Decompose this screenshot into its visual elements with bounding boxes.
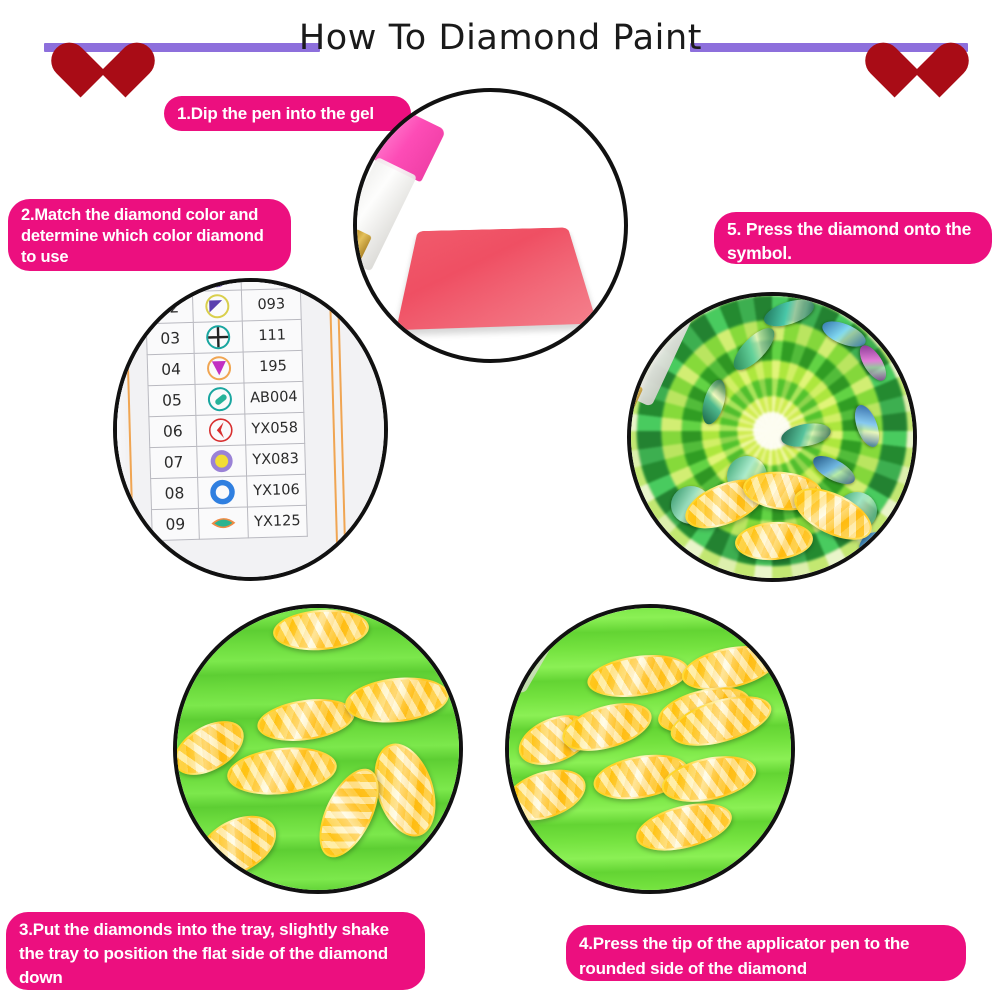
symbol-legend-table: 02002093031110419505AB00406YX05807YX0830… xyxy=(144,278,308,541)
symbol-table-row: 03111 xyxy=(146,319,302,354)
symbol-row-code: 195 xyxy=(243,350,303,383)
symbol-row-glyph xyxy=(193,321,243,353)
symbol-row-glyph xyxy=(196,414,246,446)
color-symbol-chart-photo: 02002093031110419505AB00406YX05807YX0830… xyxy=(113,278,388,581)
symbol-row-code: 111 xyxy=(242,319,302,352)
symbol-row-number: 08 xyxy=(151,477,199,509)
symbol-row-number: 03 xyxy=(146,322,194,354)
symbol-leaf-icon xyxy=(210,510,237,537)
symbol-left-arrow-icon xyxy=(207,417,234,444)
placing-diamond-on-canvas-photo xyxy=(627,292,917,582)
symbol-triangle-down-icon xyxy=(206,355,233,382)
symbol-table-row: 06YX058 xyxy=(149,412,305,447)
page-header: How To Diamond Paint xyxy=(0,0,1001,82)
symbol-table-row: 07YX083 xyxy=(150,443,306,478)
paper-guide-line xyxy=(336,278,348,581)
symbol-row-glyph xyxy=(198,507,248,539)
symbol-row-number: 04 xyxy=(147,353,195,385)
symbol-row-glyph xyxy=(194,352,244,384)
symbol-row-glyph xyxy=(195,383,245,415)
symbol-row-glyph xyxy=(198,476,248,508)
step-1-label: 1.Dip the pen into the gel xyxy=(164,96,411,131)
symbol-slash-oval-icon xyxy=(207,386,234,413)
step-5-label: 5. Press the diamond onto the symbol. xyxy=(714,212,992,264)
symbol-row-code: 093 xyxy=(241,288,301,321)
symbol-row-glyph xyxy=(197,445,247,477)
symbol-table-row: 08YX106 xyxy=(151,474,307,509)
step-3-label: 3.Put the diamonds into the tray, slight… xyxy=(6,912,425,990)
symbol-table-row: 09YX125 xyxy=(151,505,307,540)
page-title: How To Diamond Paint xyxy=(0,16,1001,60)
symbol-row-number: 09 xyxy=(151,508,199,540)
symbol-double-dot-circle-icon xyxy=(203,278,230,289)
symbol-row-code: YX058 xyxy=(245,412,305,445)
pen-picking-diamond-photo xyxy=(505,604,795,894)
diamonds-in-tray-photo xyxy=(173,604,463,894)
symbol-plus-circle-icon xyxy=(205,324,232,351)
chart-paper: 02002093031110419505AB00406YX05807YX0830… xyxy=(113,278,388,581)
symbol-filled-dot-icon xyxy=(208,448,235,475)
step-2-label: 2.Match the diamond color and determine … xyxy=(8,199,291,271)
symbol-row-number: 05 xyxy=(148,384,196,416)
symbol-ring-icon xyxy=(209,479,236,506)
symbol-table-row: 02093 xyxy=(145,288,301,323)
symbol-row-glyph xyxy=(192,290,242,322)
symbol-triangle-corner-icon xyxy=(204,293,231,320)
symbol-row-number xyxy=(145,278,193,293)
symbol-row-code: YX083 xyxy=(246,443,306,476)
symbol-row-code: YX125 xyxy=(247,505,307,538)
symbol-row-code: AB004 xyxy=(244,381,304,414)
gel-pad xyxy=(396,227,597,330)
symbol-row-number: 02 xyxy=(145,291,193,323)
pen-dipping-in-gel-photo xyxy=(353,88,628,363)
step-4-label: 4.Press the tip of the applicator pen to… xyxy=(566,925,966,981)
symbol-table-row: 04195 xyxy=(147,350,303,385)
symbol-table-row: 05AB004 xyxy=(148,381,304,416)
symbol-row-code: YX106 xyxy=(247,474,307,507)
symbol-row-number: 06 xyxy=(149,415,197,447)
symbol-row-number: 07 xyxy=(150,446,198,478)
